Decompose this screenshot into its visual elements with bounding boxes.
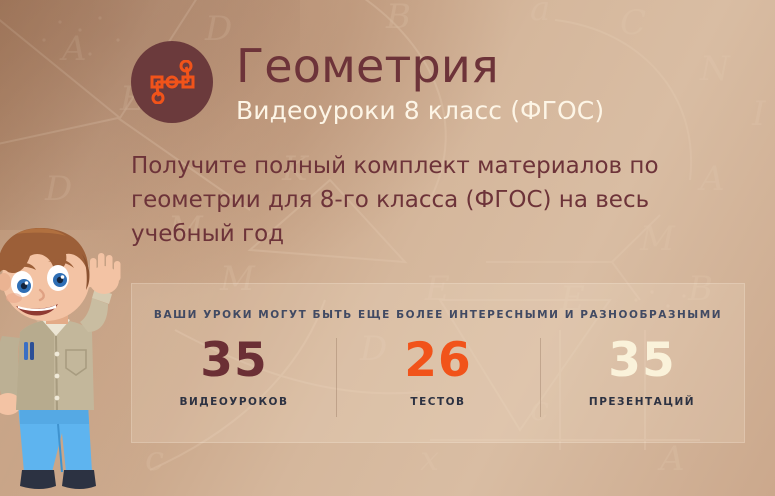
stat-tests: 26 ТЕСТОВ — [336, 334, 540, 408]
svg-text:I: I — [751, 94, 766, 134]
page-title: Геометрия — [236, 39, 604, 93]
svg-text:B: B — [385, 0, 411, 37]
stat-presentations: 35 ПРЕЗЕНТАЦИЙ — [540, 334, 744, 408]
subject-logo-badge — [131, 41, 213, 123]
stat-value: 26 — [336, 334, 540, 388]
svg-text:x: x — [420, 439, 439, 479]
svg-text:D: D — [44, 169, 72, 209]
svg-text:a: a — [530, 0, 550, 29]
title-block: Геометрия Видеоуроки 8 класс (ФГОС) — [236, 39, 604, 128]
promo-banner: A E D D B a C N I A M K M M E E B D c c — [0, 0, 775, 496]
svg-text:C: C — [620, 3, 646, 43]
waving-schoolboy-illustration — [0, 228, 122, 496]
stat-videolessons: 35 ВИДЕОУРОКОВ — [132, 334, 336, 408]
svg-text:A: A — [657, 439, 685, 479]
svg-text:N: N — [699, 49, 731, 89]
stat-value: 35 — [540, 334, 744, 388]
stat-label: ПРЕЗЕНТАЦИЙ — [540, 396, 744, 408]
page-subtitle: Видеоуроки 8 класс (ФГОС) — [236, 94, 604, 128]
svg-text:A: A — [59, 29, 87, 69]
banner-header: Геометрия Видеоуроки 8 класс (ФГОС) — [131, 39, 604, 128]
lead-paragraph: Получите полный комплект материалов по г… — [131, 149, 731, 251]
stats-row: 35 ВИДЕОУРОКОВ 26 ТЕСТОВ 35 ПРЕЗЕНТАЦИЙ — [132, 334, 744, 408]
stat-label: ТЕСТОВ — [336, 396, 540, 408]
stats-heading: ВАШИ УРОКИ МОГУТ БЫТЬ ЕЩЕ БОЛЕЕ ИНТЕРЕСН… — [132, 309, 744, 321]
stats-panel: ВАШИ УРОКИ МОГУТ БЫТЬ ЕЩЕ БОЛЕЕ ИНТЕРЕСН… — [131, 283, 745, 443]
stat-label: ВИДЕОУРОКОВ — [132, 396, 336, 408]
stat-value: 35 — [132, 334, 336, 388]
svg-text:c: c — [145, 439, 164, 479]
bezier-path-node-icon — [147, 60, 197, 104]
